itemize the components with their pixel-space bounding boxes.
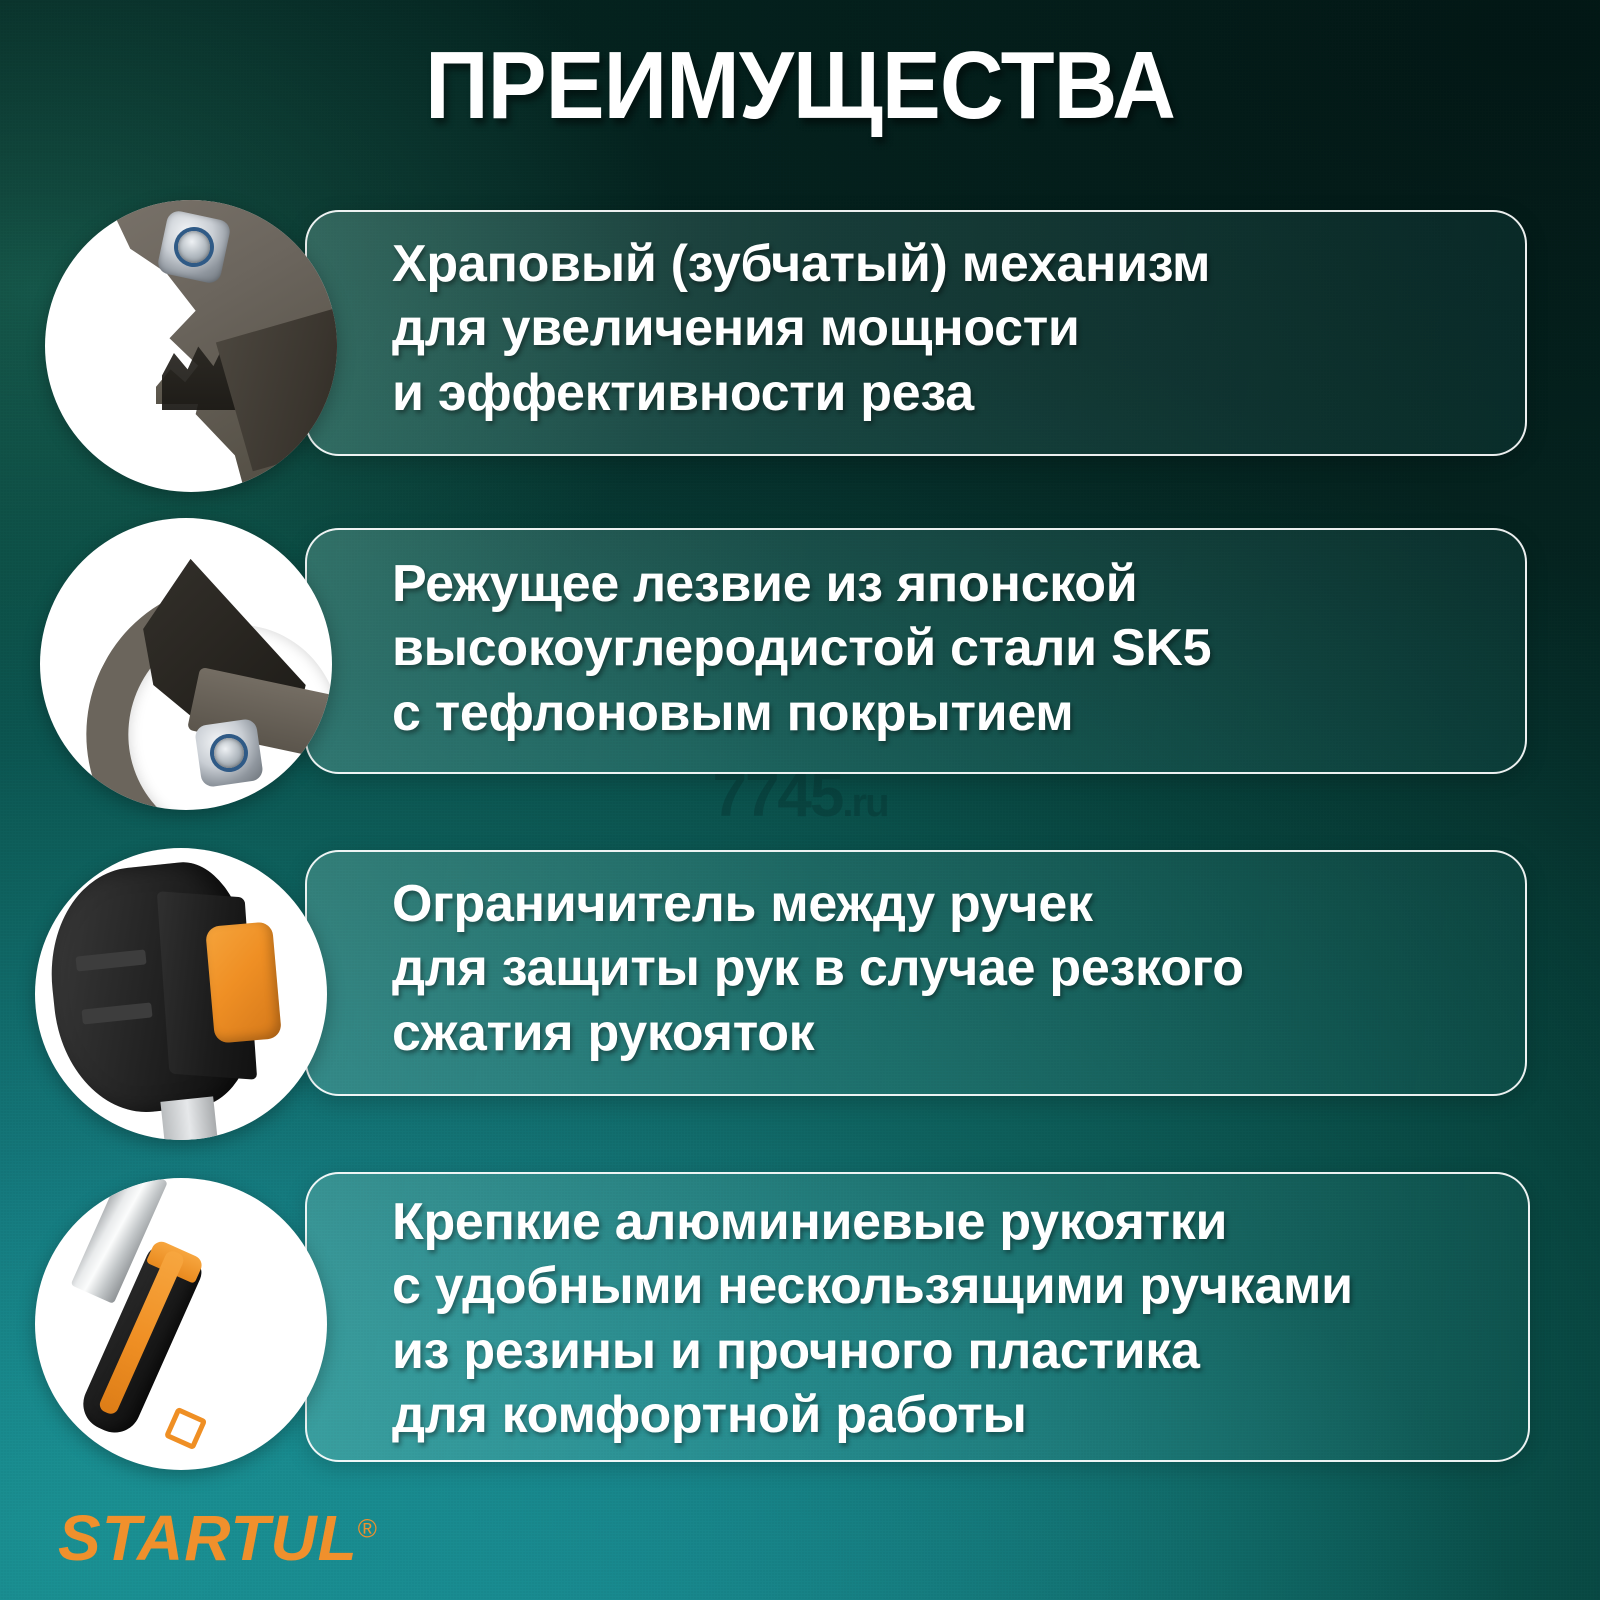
watermark-tld: .ru: [842, 781, 887, 825]
chrome-nut-icon: [194, 718, 264, 788]
handle-stop-photo: [35, 848, 327, 1140]
cutting-blade-photo: [40, 518, 332, 810]
page-title: ПРЕИМУЩЕСТВА: [64, 38, 1536, 134]
feature-text-3: Ограничитель между ручек для защиты рук …: [392, 872, 1492, 1065]
brand-name: STARTUL: [58, 1502, 358, 1574]
grip-loop: [164, 1406, 208, 1450]
feature-text-1: Храповый (зубчатый) механизм для увеличе…: [392, 232, 1492, 425]
brand-logo: STARTUL®: [58, 1506, 377, 1570]
chrome-nut-icon: [156, 209, 232, 285]
aluminium-handle-photo: [35, 1178, 327, 1470]
ratchet-gear-photo: [45, 200, 337, 492]
orange-rubber-pad: [205, 921, 282, 1043]
handle-tube: [161, 1097, 219, 1140]
infographic-page: ПРЕИМУЩЕСТВА 7745.ru Храповый (зубчатый)…: [0, 0, 1600, 1600]
feature-text-2: Режущее лезвие из японской высокоуглерод…: [392, 552, 1492, 745]
feature-text-4: Крепкие алюминиевые рукоятки с удобными …: [392, 1190, 1512, 1448]
registered-trademark-icon: ®: [358, 1514, 377, 1544]
